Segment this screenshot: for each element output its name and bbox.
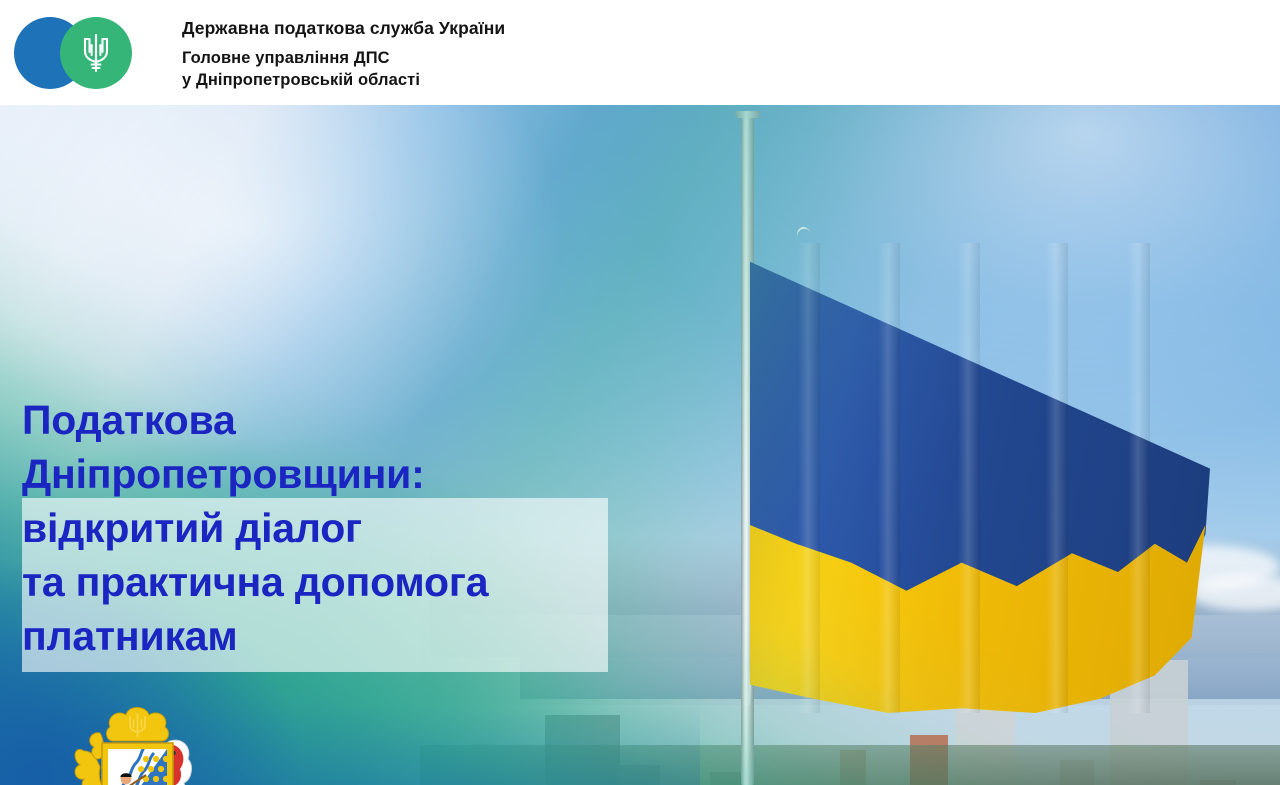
title-line-5: платникам xyxy=(22,609,642,663)
title-line-4: та практична допомога xyxy=(22,555,642,609)
poster-canvas: Державна податкова служба України Головн… xyxy=(0,0,1280,785)
org-subtitle: Головне управління ДПС у Дніпропетровськ… xyxy=(182,48,882,92)
site-header: Державна податкова служба України Головн… xyxy=(0,0,1280,105)
hero-banner: Податкова Дніпропетровщини: відкритий ді… xyxy=(0,105,1280,785)
org-subtitle-line-2: у Дніпропетровській області xyxy=(182,70,882,92)
headline-block: Податкова Дніпропетровщини: відкритий ді… xyxy=(22,393,608,672)
title-line-2: Дніпропетровщини: xyxy=(22,447,642,501)
organization-text-block: Державна податкова служба України Головн… xyxy=(182,18,882,91)
org-subtitle-line-1: Головне управління ДПС xyxy=(182,48,882,70)
dnipropetrovsk-oblast-coat-of-arms xyxy=(70,695,205,785)
org-title: Державна податкова служба України xyxy=(182,18,882,40)
title-line-3: відкритий діалог xyxy=(22,501,642,555)
title-line-1: Податкова xyxy=(22,393,642,447)
organization-logo[interactable] xyxy=(14,17,174,89)
ukrainian-trident-icon xyxy=(60,17,132,89)
page-title: Податкова Дніпропетровщини: відкритий ді… xyxy=(22,393,642,663)
